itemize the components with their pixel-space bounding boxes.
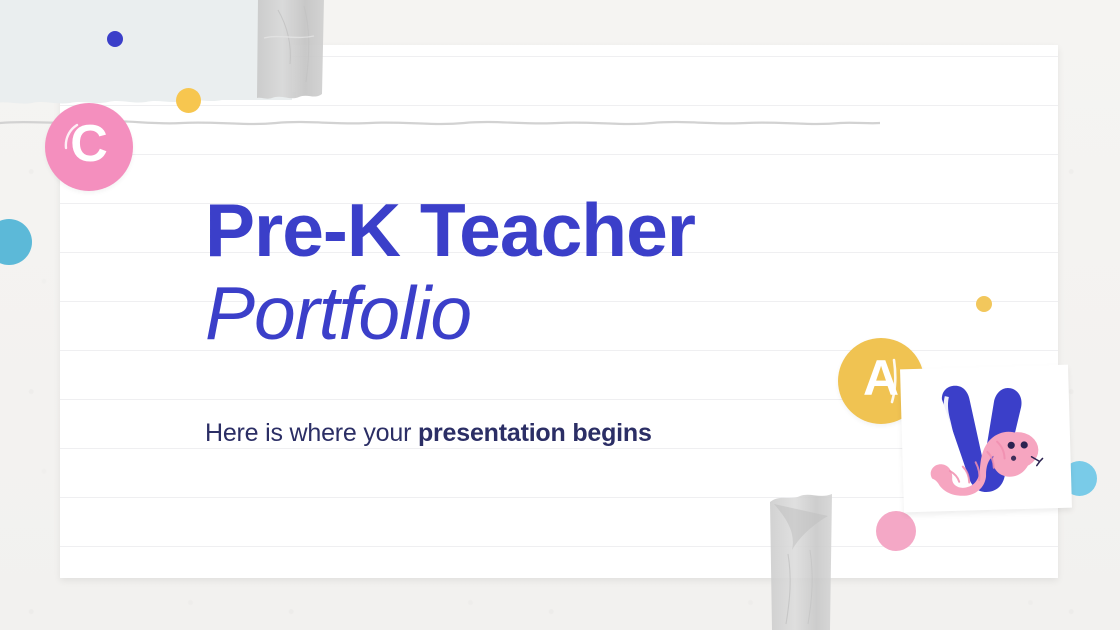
letter-c-badge-label: C <box>70 114 108 174</box>
illustration-card <box>900 365 1072 513</box>
teal-dot-icon <box>0 219 32 265</box>
title-line-1: Pre-K Teacher <box>205 190 905 270</box>
title-block: Pre-K Teacher Portfolio <box>205 190 905 356</box>
subtitle: Here is where your presentation begins <box>205 417 652 449</box>
slide-canvas: Pre-K Teacher Portfolio Here is where yo… <box>0 0 1120 630</box>
letter-a-badge-label: A <box>863 349 899 407</box>
letter-c-badge: C <box>45 103 133 191</box>
title-line-2: Portfolio <box>205 270 905 356</box>
paper-rule-line <box>60 154 1058 155</box>
pink-dot-icon <box>876 511 916 551</box>
yellow-dot-icon <box>176 88 201 113</box>
tape-strip-top <box>252 0 330 104</box>
subtitle-emphasis: presentation begins <box>418 419 652 447</box>
letter-v-worm-illustration <box>900 365 1072 513</box>
tape-strip-bottom <box>766 492 838 630</box>
amber-small-dot-icon <box>976 296 992 312</box>
subtitle-lead: Here is where your <box>205 419 418 447</box>
torn-paper-shadow-edge <box>0 116 880 130</box>
navy-dot-icon <box>107 31 123 47</box>
torn-paper-patch <box>0 0 292 100</box>
